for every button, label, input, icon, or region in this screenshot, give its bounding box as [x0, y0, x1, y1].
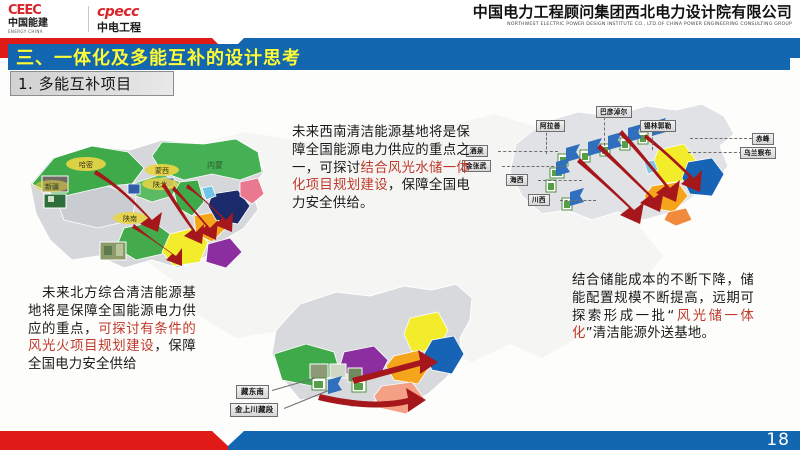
callout-leader [538, 180, 582, 181]
map-label-chuanxi: 川西 [528, 194, 550, 206]
text-right-part2: ”清洁能源外送基地。 [586, 326, 715, 341]
slide-footer: 18 [0, 431, 800, 450]
footer-blue-segment [228, 431, 800, 450]
map-wind-solar-storage-bases [462, 100, 798, 228]
svg-text:蒙西: 蒙西 [155, 166, 169, 175]
map-label-alxa: 阿拉善 [536, 120, 565, 132]
section-title-bar: 三、一体化及多能互补的设计思考 [8, 44, 790, 70]
logo-group: CEEC 中国能建 ENERGY CHINA cpecc 中电工程 [8, 2, 183, 36]
map-southwest-clean-energy-base [248, 268, 478, 432]
text-block-southwest: 未来西南清洁能源基地将是保障全国能源电力供应的重点之一，可探讨结合风光水储一体化… [292, 124, 470, 213]
text-block-storage: 结合储能成本的不断下降，储能配置规模不断提高，远期可探索形成一批“风光储一体化”… [572, 272, 754, 343]
ceec-wordmark: CEEC [8, 4, 80, 17]
cpecc-chinese-name: 中电工程 [97, 21, 141, 34]
map-northern-clean-energy-base: 哈密 新疆 蒙西 陕北 陕南 内蒙 [12, 128, 274, 276]
cpecc-logo: cpecc 中电工程 [97, 5, 141, 34]
organization-name-cn: 中国电力工程顾问集团西北电力设计院有限公司 [473, 3, 792, 21]
map-label-ulanqab: 乌兰察布 [740, 147, 776, 159]
ceec-chinese-name: 中国能建 [8, 18, 80, 29]
callout-leader [502, 166, 564, 167]
logo-divider [88, 6, 89, 32]
map-label-haixi: 海西 [506, 174, 528, 186]
callout-leader [498, 151, 558, 152]
svg-text:内蒙: 内蒙 [207, 160, 223, 170]
svg-text:新疆: 新疆 [45, 182, 59, 191]
organization-name-en: NORTHWEST ELECTRIC POWER DESIGN INSTITUT… [473, 21, 792, 29]
page-number: 18 [766, 430, 790, 450]
slide: CEEC 中国能建 ENERGY CHINA cpecc 中电工程 中国电力工程… [0, 0, 800, 450]
svg-text:哈密: 哈密 [79, 160, 93, 169]
text-block-north: 未来北方综合清洁能源基地将是保障全国能源电力供应的重点，可探讨有条件的风光火项目… [28, 285, 196, 374]
map-label-xilingol: 锡林郭勒 [640, 120, 676, 132]
svg-text:陕南: 陕南 [123, 214, 137, 223]
map-label-southeast-tibet: 藏东南 [236, 385, 269, 399]
map-label-chifeng: 赤峰 [752, 133, 774, 145]
subsection-title: 1. 多能互补项目 [11, 73, 132, 94]
map-label-jinsha-sichuan-tibet: 金上川藏段 [230, 403, 278, 417]
callout-leader [690, 138, 752, 139]
page-title: 三、一体化及多能互补的设计思考 [8, 44, 301, 70]
callout-leader [688, 152, 742, 153]
map-label-bayannur: 巴彦淖尔 [596, 106, 632, 118]
footer-red-segment [0, 431, 228, 450]
slide-header: CEEC 中国能建 ENERGY CHINA cpecc 中电工程 中国电力工程… [0, 0, 800, 38]
organization-name-block: 中国电力工程顾问集团西北电力设计院有限公司 NORTHWEST ELECTRIC… [473, 3, 792, 29]
ceec-logo: CEEC 中国能建 ENERGY CHINA [8, 4, 80, 35]
subsection-title-bar: 1. 多能互补项目 [10, 71, 174, 96]
ceec-english-name: ENERGY CHINA [8, 29, 80, 35]
cpecc-wordmark: cpecc [97, 5, 141, 20]
callout-leader [560, 200, 596, 201]
